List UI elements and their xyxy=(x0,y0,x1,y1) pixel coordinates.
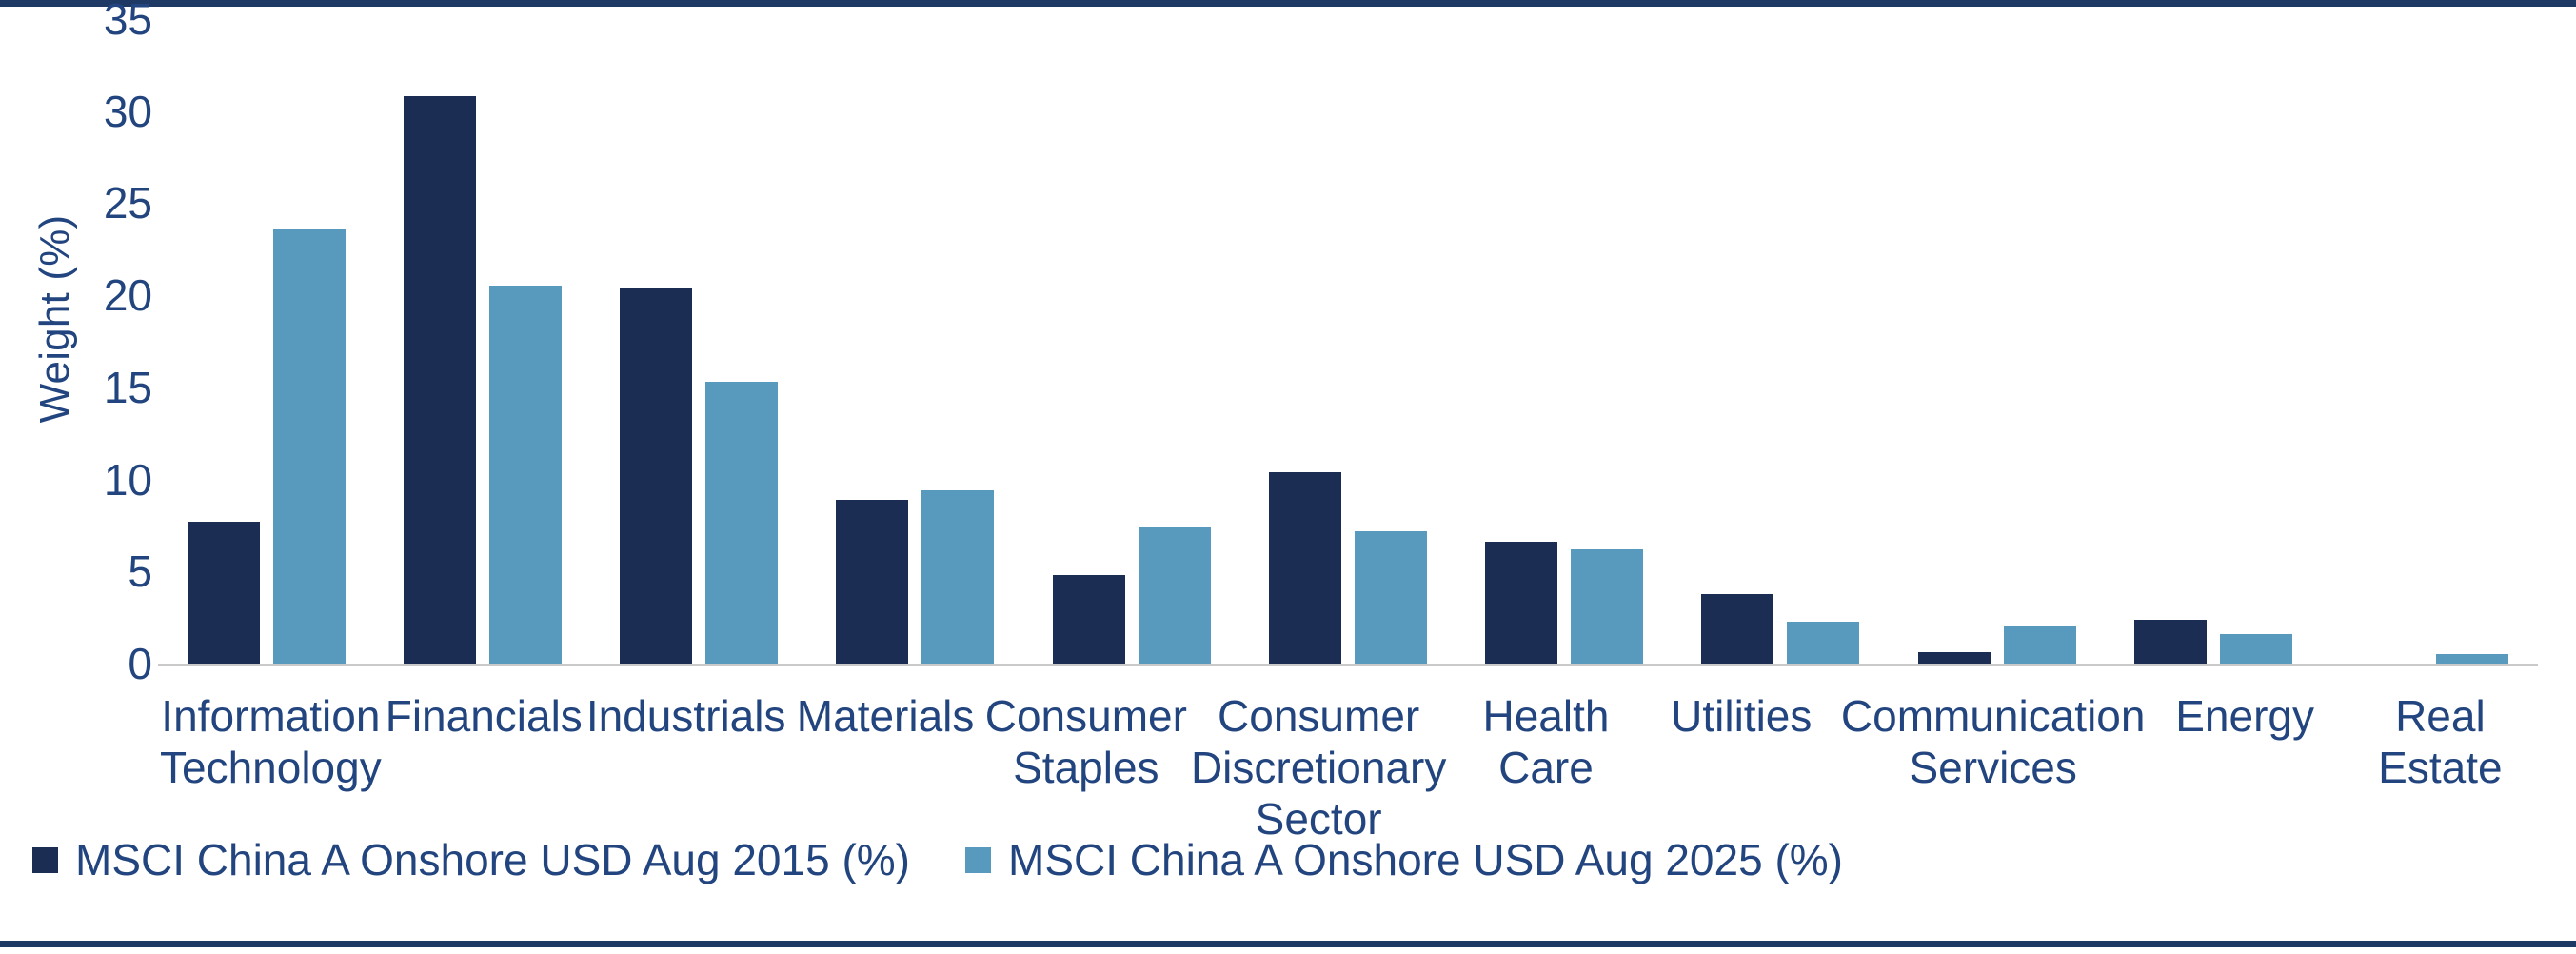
x-tick-label-line: Energy xyxy=(2149,691,2340,743)
x-tick-label-line: Health xyxy=(1450,691,1641,743)
bar-group xyxy=(2105,19,2321,664)
x-tick-label: CommunicationServices xyxy=(1839,691,2148,845)
bar[interactable] xyxy=(2220,634,2292,664)
x-tick-label-line: Staples xyxy=(985,743,1187,794)
y-tick-label: 10 xyxy=(38,458,152,502)
top-rule xyxy=(0,0,2576,7)
x-tick-label: HealthCare xyxy=(1448,691,1643,845)
bar[interactable] xyxy=(1701,594,1773,665)
y-tick-label: 15 xyxy=(38,366,152,409)
legend-label: MSCI China A Onshore USD Aug 2015 (%) xyxy=(75,834,910,885)
bar[interactable] xyxy=(1485,542,1557,664)
bar-group xyxy=(1889,19,2105,664)
bar-group xyxy=(1456,19,1673,664)
bar[interactable] xyxy=(188,522,260,664)
legend-item[interactable]: MSCI China A Onshore USD Aug 2025 (%) xyxy=(965,834,1843,885)
y-tick-label: 20 xyxy=(38,273,152,317)
x-tick-label-line: Estate xyxy=(2345,743,2536,794)
x-tick-label-line: Industrials xyxy=(586,691,786,743)
bar[interactable] xyxy=(836,500,908,664)
bar[interactable] xyxy=(1053,575,1125,664)
x-tick-label: InformationTechnology xyxy=(158,691,384,845)
bottom-rule xyxy=(0,941,2576,947)
x-tick-label-line: Consumer xyxy=(985,691,1187,743)
x-tick-label-line: Financials xyxy=(386,691,583,743)
bar[interactable] xyxy=(489,286,562,664)
bar[interactable] xyxy=(620,288,692,664)
bar[interactable] xyxy=(1139,527,1211,664)
x-tick-label-line: Communication xyxy=(1841,691,2146,743)
bar-group xyxy=(2322,19,2538,664)
legend-swatch-icon xyxy=(965,847,991,873)
x-tick-label-line: Utilities xyxy=(1646,691,1837,743)
bar[interactable] xyxy=(2004,626,2076,664)
x-tick-label: Energy xyxy=(2147,691,2342,845)
bar-groups xyxy=(158,19,2538,664)
bar-chart: Weight (%) 35302520151050 InformationTec… xyxy=(0,19,2576,686)
bar[interactable] xyxy=(705,382,778,664)
x-tick-label-line: Services xyxy=(1841,743,2146,794)
bar[interactable] xyxy=(404,96,476,664)
x-tick-label-line: Discretionary xyxy=(1191,743,1446,794)
chart-page: Weight (%) 35302520151050 InformationTec… xyxy=(0,0,2576,954)
bar[interactable] xyxy=(1269,472,1341,664)
bar-group xyxy=(591,19,807,664)
plot-area xyxy=(158,19,2538,666)
bar-group xyxy=(1239,19,1456,664)
y-tick-label: 25 xyxy=(38,181,152,225)
x-tick-label: Utilities xyxy=(1644,691,1839,845)
bar-group xyxy=(158,19,374,664)
x-tick-label-line: Technology xyxy=(160,743,382,794)
y-axis-ticks: 35302520151050 xyxy=(38,19,152,666)
bar-group xyxy=(1023,19,1239,664)
x-tick-label: Financials xyxy=(384,691,585,845)
bar[interactable] xyxy=(921,490,994,664)
x-tick-label: ConsumerStaples xyxy=(983,691,1189,845)
x-tick-label-line: Consumer xyxy=(1191,691,1446,743)
x-tick-label-line: Care xyxy=(1450,743,1641,794)
y-tick-label: 35 xyxy=(38,0,152,41)
bar[interactable] xyxy=(273,229,346,664)
x-tick-label-line: Information xyxy=(160,691,382,743)
bar[interactable] xyxy=(1571,549,1643,664)
bar[interactable] xyxy=(1787,622,1859,664)
bar-group xyxy=(374,19,590,664)
legend-swatch-icon xyxy=(32,847,58,873)
x-tick-label: ConsumerDiscretionarySector xyxy=(1189,691,1448,845)
y-tick-label: 5 xyxy=(38,549,152,593)
bar[interactable] xyxy=(1355,531,1427,664)
bar[interactable] xyxy=(2134,620,2207,664)
y-tick-label: 30 xyxy=(38,89,152,133)
x-tick-label-line: Real xyxy=(2345,691,2536,743)
x-tick-label: Materials xyxy=(787,691,982,845)
x-axis-line xyxy=(158,664,2538,666)
bar[interactable] xyxy=(1918,652,1991,664)
legend-item[interactable]: MSCI China A Onshore USD Aug 2015 (%) xyxy=(32,834,910,885)
x-tick-label: Industrials xyxy=(585,691,788,845)
bar-group xyxy=(807,19,1023,664)
bar-group xyxy=(1673,19,1889,664)
legend-label: MSCI China A Onshore USD Aug 2025 (%) xyxy=(1008,834,1843,885)
x-axis-labels: InformationTechnologyFinancialsIndustria… xyxy=(158,691,2538,845)
bar[interactable] xyxy=(2436,654,2508,664)
x-tick-label-line: Materials xyxy=(789,691,981,743)
y-tick-label: 0 xyxy=(38,642,152,686)
x-tick-label: RealEstate xyxy=(2343,691,2538,845)
chart-legend: MSCI China A Onshore USD Aug 2015 (%)MSC… xyxy=(32,834,1843,885)
